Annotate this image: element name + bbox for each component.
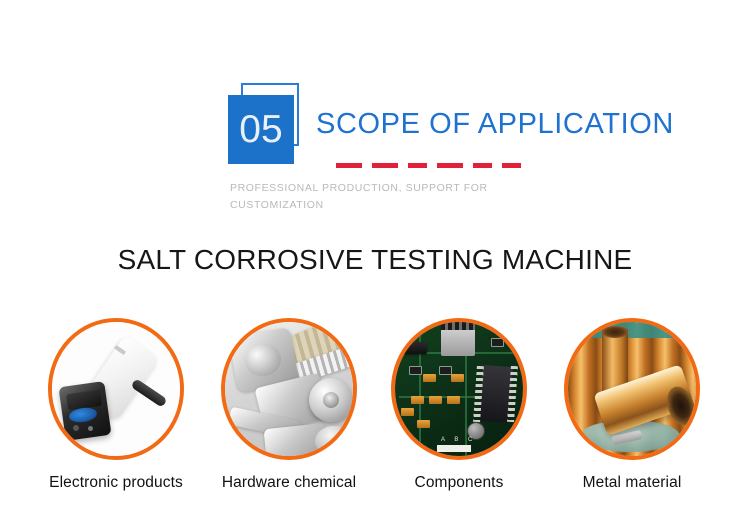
- divider-dash: [473, 163, 492, 168]
- badge-number-text: 05: [228, 95, 294, 164]
- application-cards-row: Electronic products Hardware chemica: [0, 312, 750, 512]
- copper-background-surface: [568, 322, 696, 338]
- hardware-ring-secondary: [315, 426, 353, 456]
- divider-dash: [502, 163, 521, 168]
- metal-material-photo: [564, 318, 700, 460]
- divider-dash: [408, 163, 427, 168]
- application-card-metal-material: Metal material: [546, 312, 718, 492]
- pcb-resistor: [423, 374, 436, 382]
- application-card-electronic-products: Electronic products: [30, 312, 202, 492]
- card-label: Electronic products: [30, 474, 202, 492]
- divider-dash: [336, 163, 362, 168]
- application-scope-banner: 05 SCOPE OF APPLICATION PROFESSIONAL PRO…: [0, 0, 750, 526]
- section-subtitle: PROFESSIONAL PRODUCTION, SUPPORT FOR CUS…: [230, 180, 530, 214]
- pcb-resistor: [447, 396, 460, 404]
- pcb-connector-pins: [441, 322, 475, 330]
- pcb-resistor: [417, 420, 430, 428]
- divider-dashes: [336, 163, 521, 168]
- application-card-components: A B C Components: [373, 312, 545, 492]
- pcb-resistor: [451, 374, 464, 382]
- components-photo: A B C: [391, 318, 527, 460]
- card-label: Hardware chemical: [203, 474, 375, 492]
- divider-dash: [372, 163, 398, 168]
- pcb-smd-component: [409, 366, 422, 375]
- divider-dash: [437, 163, 463, 168]
- section-title: SCOPE OF APPLICATION: [316, 108, 674, 141]
- pcb-resistor: [411, 396, 424, 404]
- pcb-smd-component: [491, 338, 504, 347]
- section-header: 05 SCOPE OF APPLICATION PROFESSIONAL PRO…: [0, 0, 750, 300]
- card-label: Components: [373, 474, 545, 492]
- pcb-small-chip: [403, 342, 427, 354]
- application-card-hardware-chemical: Hardware chemical: [203, 312, 375, 492]
- hardware-bearing-inner: [323, 392, 339, 408]
- pcb-resistor: [401, 408, 414, 416]
- hardware-chemical-illustration: [225, 322, 353, 456]
- components-illustration: A B C: [395, 322, 523, 456]
- electronic-products-photo: [48, 318, 184, 460]
- pcb-board-marking: A B C: [441, 437, 476, 443]
- product-title: SALT CORROSIVE TESTING MACHINE: [0, 244, 750, 276]
- pcb-smd-component: [439, 366, 452, 375]
- copper-tube-opening: [602, 326, 628, 338]
- pcb-resistor: [429, 396, 442, 404]
- hardware-chemical-photo: [221, 318, 357, 460]
- black-device-button-secondary: [88, 426, 93, 431]
- metal-material-illustration: [568, 322, 696, 456]
- electronic-products-illustration: [52, 322, 180, 456]
- card-label: Metal material: [546, 474, 718, 492]
- pcb-white-strip: [437, 445, 471, 452]
- section-number-badge: 05: [228, 83, 306, 167]
